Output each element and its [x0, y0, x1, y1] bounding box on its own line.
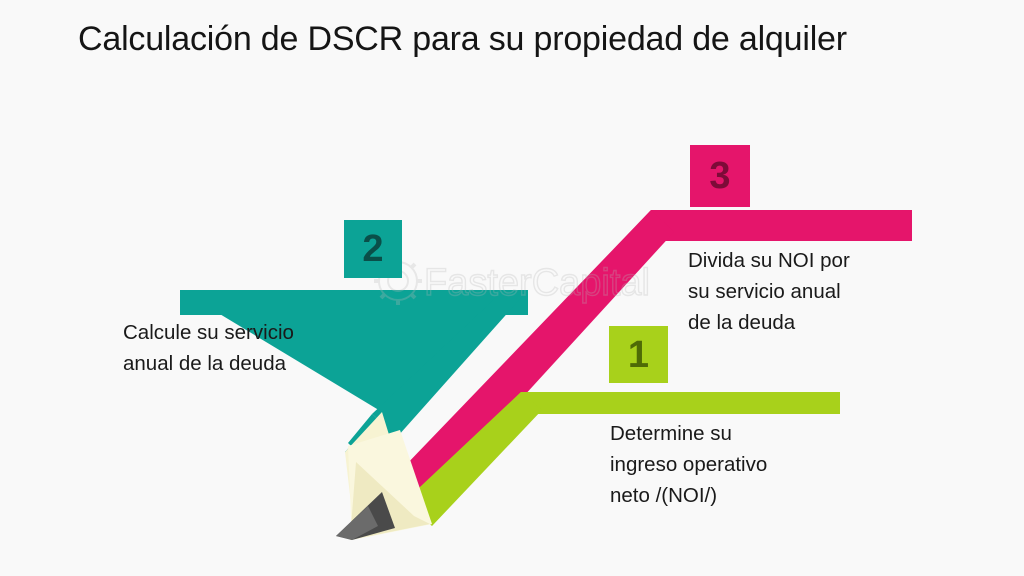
infographic-canvas: Calculación de DSCR para su propiedad de…: [0, 0, 1024, 576]
step-badge-3: 3: [690, 145, 750, 207]
step-caption-2: Calcule su servicio anual de la deuda: [123, 317, 413, 379]
step-caption-1: Determine su ingreso operativo neto /(NO…: [610, 418, 910, 511]
watermark-text: FasterCapital: [424, 262, 650, 304]
step-badge-2: 2: [344, 220, 402, 278]
step-badge-1: 1: [609, 326, 668, 383]
step-caption-3: Divida su NOI por su servicio anual de l…: [688, 245, 948, 338]
